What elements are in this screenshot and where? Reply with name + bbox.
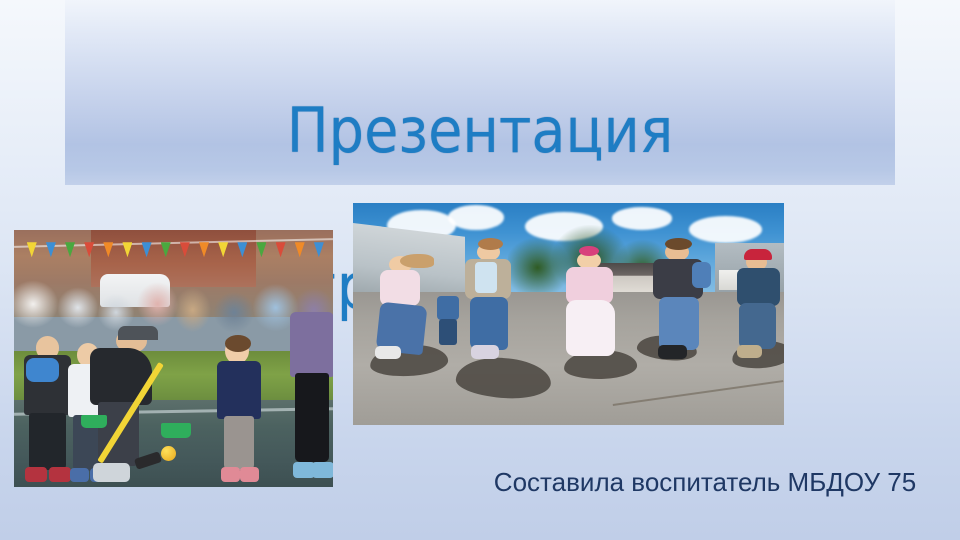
author-credit-line-2: Сожигаева А.В.	[480, 536, 930, 540]
flag-bunting	[122, 242, 132, 257]
author-credit: Составила воспитатель МБДОУ 75 Сожигаева…	[480, 428, 930, 540]
flag-bunting	[218, 242, 228, 257]
flag-bunting	[46, 242, 56, 257]
flag-bunting	[199, 242, 209, 257]
flag-bunting	[142, 242, 152, 257]
flag-bunting	[103, 242, 113, 257]
left-photo-flag-garland	[14, 238, 333, 266]
flag-bunting	[295, 242, 305, 257]
flag-bunting	[84, 242, 94, 257]
photo-playground-games	[14, 230, 333, 487]
left-photo-green-basket	[81, 415, 107, 428]
flag-bunting	[314, 242, 324, 257]
flag-bunting	[27, 242, 37, 257]
right-photo-jumping-child	[456, 243, 529, 363]
presentation-slide: Презентация «Игры во дворе»	[0, 0, 960, 540]
right-photo-jumping-child	[732, 252, 784, 363]
left-photo-toddler-girl	[215, 338, 263, 482]
photo-kids-jumping	[353, 203, 784, 425]
left-photo-green-basket	[161, 423, 191, 438]
left-photo-yellow-ball	[161, 446, 176, 461]
right-photo-background-child	[431, 296, 465, 345]
cloud	[689, 216, 762, 243]
flag-bunting	[237, 242, 247, 257]
flag-bunting	[256, 242, 266, 257]
right-photo-jumping-child	[646, 243, 719, 363]
flag-bunting	[276, 242, 286, 257]
right-photo-jumping-child	[556, 252, 634, 367]
author-credit-line-1: Составила воспитатель МБДОУ 75	[480, 464, 930, 500]
title-line-1: Презентация	[65, 92, 895, 170]
flag-bunting	[65, 242, 75, 257]
left-photo-adult	[288, 312, 333, 482]
flag-bunting	[161, 242, 171, 257]
flag-bunting	[180, 242, 190, 257]
cloud	[448, 205, 504, 229]
